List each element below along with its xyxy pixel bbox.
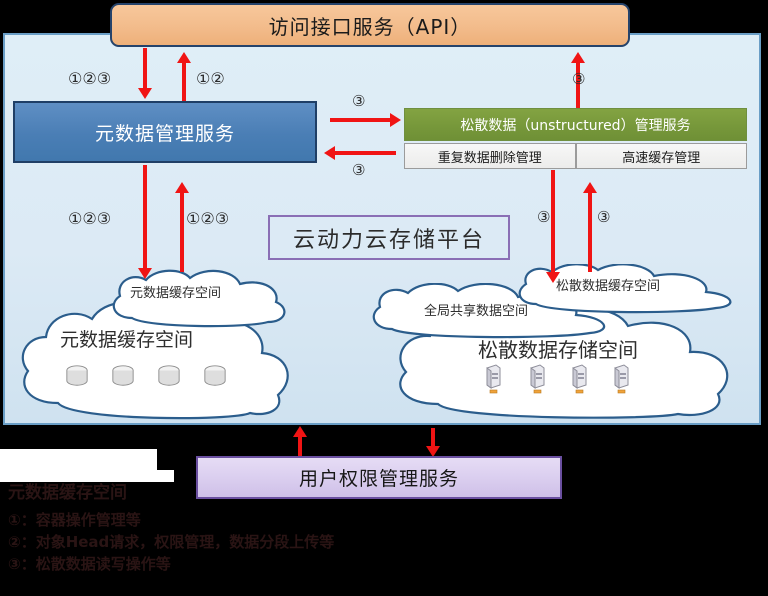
server-icon — [528, 364, 546, 394]
legend-item-2: ②：对象Head请求，权限管理，数据分段上传等 — [8, 531, 334, 553]
arrow-storage-to-unstructured — [588, 192, 592, 272]
cloud-label-metadata-cache-large: 元数据缓存空间 — [60, 325, 193, 352]
unstructured-submodule-row: 重复数据删除管理 高速缓存管理 — [404, 143, 747, 169]
step-marker-unstructured-to-api: ③ — [572, 72, 585, 87]
database-disk-icon — [156, 364, 182, 388]
diagram-canvas: 元数据缓存空间 元数据缓存空间 松散数据缓存空间 全局共享数据空间 松散数据存储… — [0, 0, 768, 596]
platform-title-box: 云动力云存储平台 — [268, 215, 510, 260]
server-icon — [612, 364, 630, 394]
cloud-label-unstructured-storage: 松散数据存储空间 — [478, 334, 638, 363]
step-marker-storage-to-unstructured: ③ — [597, 210, 610, 225]
database-disk-icon — [110, 364, 136, 388]
legend-item-3: ③：松散数据读写操作等 — [8, 553, 334, 575]
legend-item-1: ①：容器操作管理等 — [8, 509, 334, 531]
white-artifact-patch — [0, 449, 157, 470]
arrow-head-up — [175, 182, 189, 193]
arrow-head-up — [571, 52, 585, 63]
api-service-box[interactable]: 访问接口服务（API） — [110, 3, 630, 47]
platform-title-label: 云动力云存储平台 — [293, 222, 485, 254]
submodule-dedup[interactable]: 重复数据删除管理 — [404, 143, 576, 169]
arrow-head-up — [293, 426, 307, 437]
arrow-head-down — [138, 268, 152, 279]
step-marker-metadata-to-unstructured: ③ — [352, 94, 365, 109]
unstructured-service-box[interactable]: 松散数据（unstructured）管理服务 — [404, 108, 747, 141]
submodule-dedup-label: 重复数据删除管理 — [438, 147, 542, 166]
arrow-head-down — [546, 272, 560, 283]
server-icon — [570, 364, 588, 394]
arrow-head-up — [583, 182, 597, 193]
arrow-unstructured-to-metadata — [334, 151, 396, 155]
step-marker-unstructured-to-metadata: ③ — [352, 163, 365, 178]
submodule-cache-label: 高速缓存管理 — [622, 147, 700, 166]
metadata-service-box[interactable]: 元数据管理服务 — [13, 101, 317, 163]
arrow-head-up — [177, 52, 191, 63]
cloud-label-metadata-cache-small: 元数据缓存空间 — [130, 282, 221, 301]
step-marker-api-to-metadata: ①②③ — [68, 69, 111, 88]
api-service-label: 访问接口服务（API） — [269, 11, 472, 40]
metadata-service-label: 元数据管理服务 — [95, 119, 235, 146]
stray-cloud-label: 元数据缓存空间 — [8, 478, 127, 503]
arrow-metadata-to-unstructured — [330, 118, 392, 122]
arrow-head-down — [138, 88, 152, 99]
server-icon — [484, 364, 502, 394]
arrow-platform-to-permission — [431, 428, 435, 448]
submodule-cache[interactable]: 高速缓存管理 — [576, 143, 748, 169]
unstructured-service-label: 松散数据（unstructured）管理服务 — [460, 115, 690, 135]
arrow-head-right — [390, 113, 401, 127]
database-disk-icon — [64, 364, 90, 388]
arrow-cache-to-metadata — [180, 192, 184, 272]
arrow-unstructured-to-storage — [551, 170, 555, 276]
arrow-api-to-metadata — [143, 48, 147, 90]
step-marker-unstructured-to-storage: ③ — [537, 210, 550, 225]
arrow-permission-to-platform — [298, 436, 302, 458]
permission-service-label: 用户权限管理服务 — [299, 464, 459, 491]
step-marker-cache-to-metadata: ①②③ — [186, 209, 229, 228]
arrow-metadata-to-api — [182, 62, 186, 101]
cloud-label-unstructured-cache: 松散数据缓存空间 — [556, 275, 660, 294]
step-marker-metadata-to-cache: ①②③ — [68, 209, 111, 228]
database-disk-icon — [202, 364, 228, 388]
step-marker-metadata-to-api: ①② — [196, 69, 225, 88]
cloud-label-global-shared: 全局共享数据空间 — [424, 300, 528, 319]
permission-service-box[interactable]: 用户权限管理服务 — [196, 456, 562, 499]
arrow-head-left — [324, 146, 335, 160]
arrow-metadata-to-cache — [143, 165, 147, 272]
legend-list: ①：容器操作管理等 ②：对象Head请求，权限管理，数据分段上传等 ③：松散数据… — [8, 509, 334, 575]
